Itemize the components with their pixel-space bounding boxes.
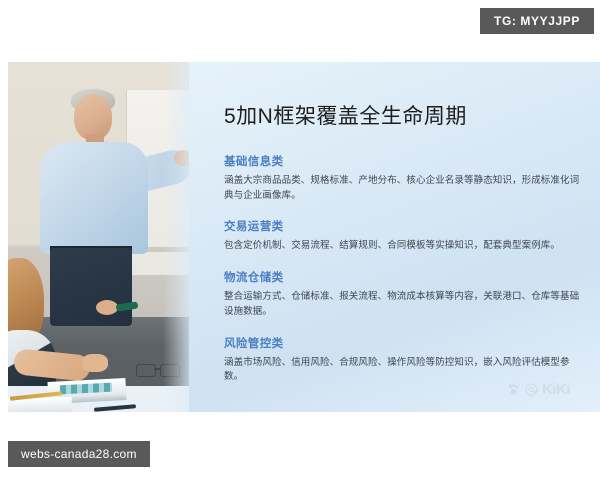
telegram-handle-badge: TG: MYYJJPP <box>480 8 594 34</box>
photo-edge-fade <box>163 62 189 412</box>
photo-presenter-lower-hand <box>96 300 118 315</box>
kiki-watermark: KiKi <box>506 381 570 398</box>
section-heading: 基础信息类 <box>224 153 586 169</box>
photo-attendee-hand <box>82 354 108 372</box>
slide-section: 交易运营类 包含定价机制、交易流程、结算规则、合同模板等实操知识，配套典型案例库… <box>224 218 586 254</box>
photo-presenter-trousers <box>50 248 132 326</box>
photo-presenter-shirt <box>40 142 148 254</box>
slide-section: 风险管控类 涵盖市场风险、信用风险、合规风险、操作风险等防控知识，嵌入风险评估模… <box>224 335 586 385</box>
section-heading: 交易运营类 <box>224 218 586 234</box>
section-body: 涵盖大宗商品品类、规格标准、产地分布、核心企业名录等静态知识，形成标准化词典与企… <box>224 174 580 203</box>
slide-section: 基础信息类 涵盖大宗商品品类、规格标准、产地分布、核心企业名录等静态知识，形成标… <box>224 153 586 203</box>
section-heading: 物流仓储类 <box>224 269 586 285</box>
slide-title: 5加N框架覆盖全生命周期 <box>224 100 467 130</box>
kiki-watermark-text: KiKi <box>542 381 570 398</box>
business-training-photo <box>8 62 189 412</box>
slide-section-list: 基础信息类 涵盖大宗商品品类、规格标准、产地分布、核心企业名录等静态知识，形成标… <box>224 153 586 400</box>
slide-content: 5加N框架覆盖全生命周期 基础信息类 涵盖大宗商品品类、规格标准、产地分布、核心… <box>224 62 586 412</box>
section-body: 包含定价机制、交易流程、结算规则、合同模板等实操知识，配套典型案例库。 <box>224 239 580 254</box>
paw-icon <box>506 382 521 397</box>
section-heading: 风险管控类 <box>224 335 586 351</box>
at-icon <box>524 382 539 397</box>
section-body: 整合运输方式、仓储标准、报关流程、物流成本核算等内容，关联港口、仓库等基础设施数… <box>224 290 580 319</box>
slide-section: 物流仓储类 整合运输方式、仓储标准、报关流程、物流成本核算等内容，关联港口、仓库… <box>224 269 586 319</box>
presentation-slide: 5加N框架覆盖全生命周期 基础信息类 涵盖大宗商品品类、规格标准、产地分布、核心… <box>8 62 600 412</box>
site-watermark: webs-canada28.com <box>8 441 150 467</box>
